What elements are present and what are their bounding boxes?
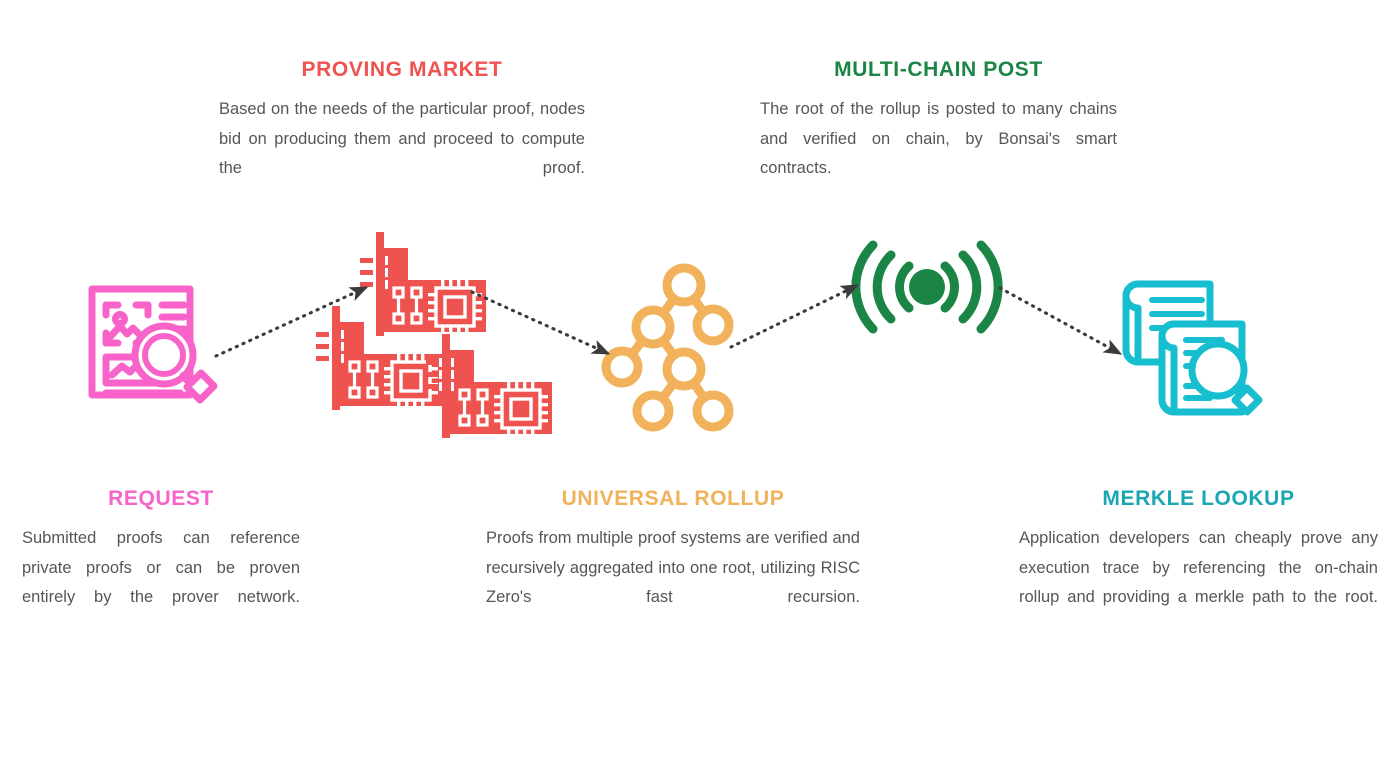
merkle-node-l2-mid (667, 352, 701, 386)
text-block-request: REQUEST Submitted proofs can reference p… (22, 487, 300, 642)
diagram-canvas: PROVING MARKET Based on the needs of the… (0, 0, 1400, 780)
merkle-node-l1-right (697, 309, 729, 341)
arrow-universal-rollup-to-multi-chain-post (731, 286, 856, 347)
merkle-node-l1-left (636, 310, 670, 344)
text-block-merkle-lookup: MERKLE LOOKUP Application developers can… (1019, 487, 1378, 642)
circuit-chip-bottom-right (426, 334, 552, 438)
universal-rollup-body: Proofs from multiple proof systems are v… (486, 524, 860, 642)
merkle-lookup-body: Application developers can cheaply prove… (1019, 524, 1378, 642)
broadcast-center-dot (909, 269, 945, 305)
multi-chain-post-body: The root of the rollup is posted to many… (760, 95, 1117, 213)
document-search-icon (84, 277, 220, 403)
merkle-lookup-title: MERKLE LOOKUP (1019, 487, 1378, 510)
circuit-chips-icon (312, 232, 550, 444)
circuit-chip-top (360, 232, 486, 336)
text-block-multi-chain-post: MULTI-CHAIN POST The root of the rollup … (760, 58, 1117, 213)
merkle-node-l3-left (637, 395, 669, 427)
request-body: Submitted proofs can reference private p… (22, 524, 300, 642)
text-block-proving-market: PROVING MARKET Based on the needs of the… (219, 58, 585, 213)
text-block-universal-rollup: UNIVERSAL ROLLUP Proofs from multiple pr… (486, 487, 860, 642)
universal-rollup-title: UNIVERSAL ROLLUP (486, 487, 860, 510)
proving-market-title: PROVING MARKET (219, 58, 585, 81)
arrow-multi-chain-post-to-merkle-lookup (1000, 288, 1119, 353)
merkle-node-l2-left (606, 351, 638, 383)
multi-chain-post-title: MULTI-CHAIN POST (760, 58, 1117, 81)
merkle-tree-icon (604, 266, 746, 430)
proving-market-body: Based on the needs of the particular pro… (219, 95, 585, 213)
documents-search-icon (1112, 278, 1262, 418)
broadcast-signal-icon (851, 244, 1003, 330)
request-title: REQUEST (22, 487, 300, 510)
merkle-node-root (667, 268, 701, 302)
merkle-node-l3-right (697, 395, 729, 427)
